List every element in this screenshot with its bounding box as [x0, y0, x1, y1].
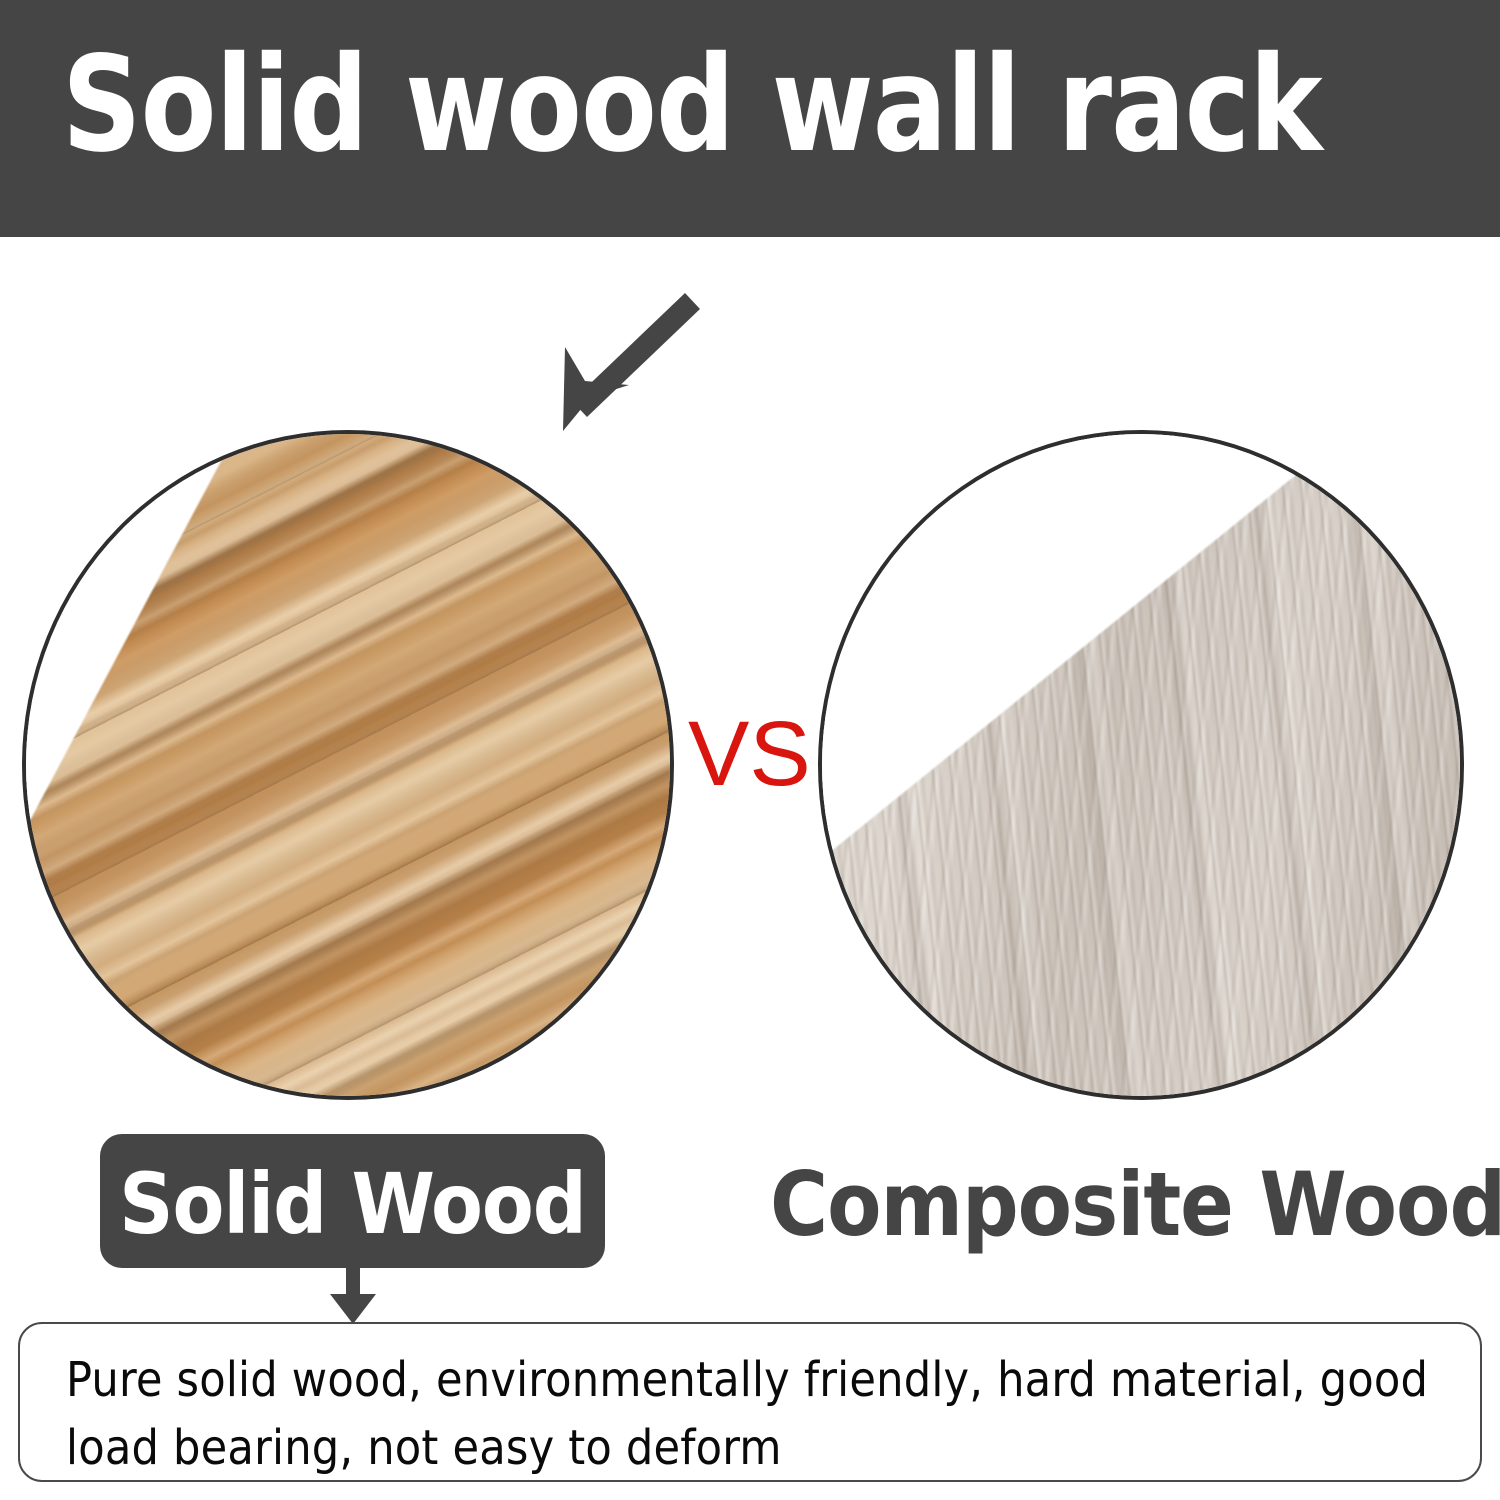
solid-wood-texture — [22, 430, 674, 1100]
composite-wood-label: Composite Wood — [770, 1150, 1470, 1260]
composite-wood-sample-circle — [818, 430, 1464, 1100]
product-comparison-infographic: { "header": { "title": "Solid wood wall … — [0, 0, 1500, 1500]
page-title: Solid wood wall rack — [62, 30, 1364, 180]
header-bar: Solid wood wall rack — [0, 0, 1500, 237]
composite-wood-texture — [818, 430, 1464, 1100]
solid-wood-badge-label: Solid Wood — [100, 1134, 605, 1268]
arrow-down-left-icon — [525, 285, 705, 445]
arrow-down-icon — [322, 1264, 384, 1326]
solid-wood-sample-circle — [22, 430, 674, 1100]
description-text: Pure solid wood, environmentally friendl… — [66, 1346, 1456, 1482]
solid-wood-badge: Solid Wood — [100, 1134, 605, 1268]
description-box: Pure solid wood, environmentally friendl… — [18, 1322, 1482, 1482]
versus-label: VS — [688, 706, 808, 802]
